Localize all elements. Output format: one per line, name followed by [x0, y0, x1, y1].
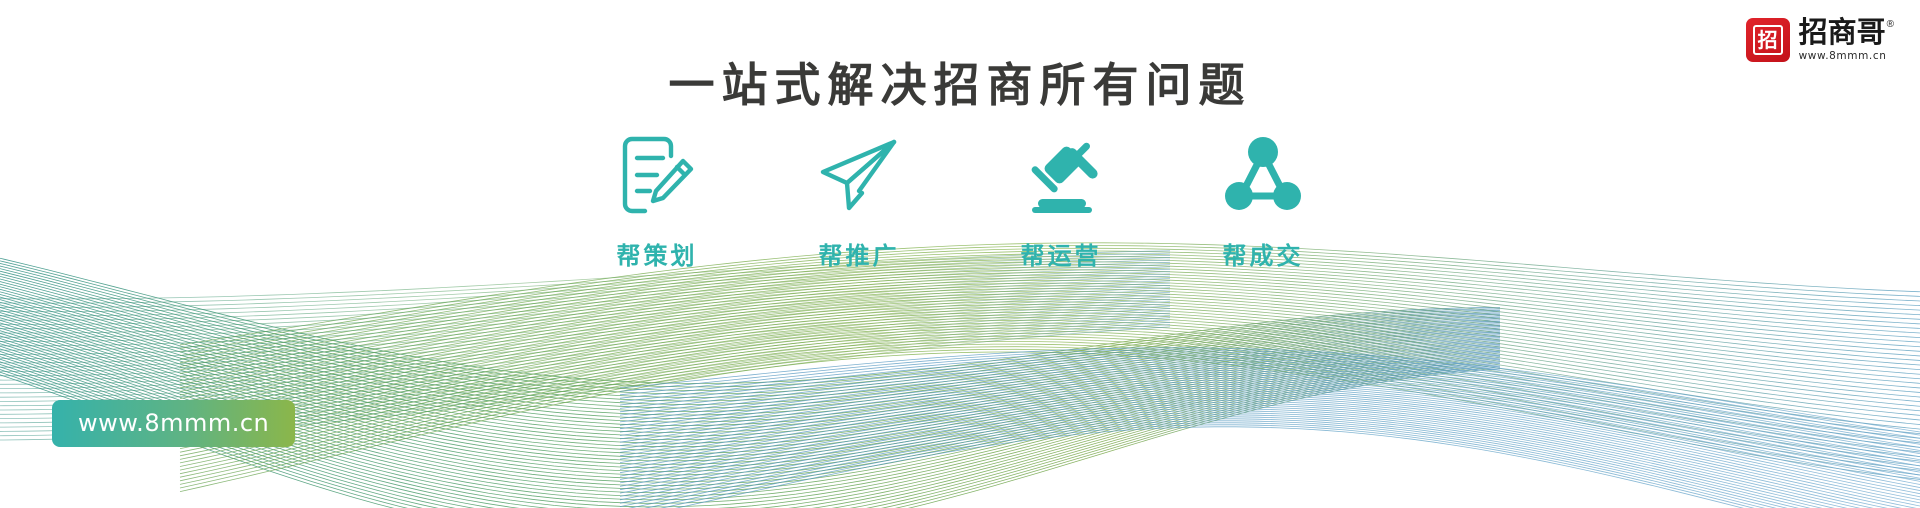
- logo-wordmark-row: 招商哥 ®: [1799, 18, 1894, 48]
- logo-mark-icon: 招: [1746, 18, 1790, 62]
- feature-label: 帮成交: [1223, 244, 1304, 268]
- logo-wordmark: 招商哥: [1799, 18, 1886, 48]
- feature-item-promotion[interactable]: 帮推广: [784, 134, 934, 268]
- gavel-icon: [1015, 134, 1107, 216]
- logo-url: www.8mmm.cn: [1799, 50, 1887, 62]
- brand-logo[interactable]: 招 招商哥 ® www.8mmm.cn: [1746, 18, 1894, 62]
- page-title: 一站式解决招商所有问题: [0, 58, 1920, 112]
- logo-mark-glyph: 招: [1753, 25, 1783, 55]
- promo-banner: 招 招商哥 ® www.8mmm.cn 一站式解决招商所有问题: [0, 0, 1920, 508]
- registered-trademark-icon: ®: [1887, 19, 1894, 30]
- feature-item-operations[interactable]: 帮运营: [986, 134, 1136, 268]
- feature-list: 帮策划 帮推广: [0, 134, 1920, 268]
- website-url-badge[interactable]: www.8mmm.cn: [52, 400, 295, 447]
- document-pencil-icon: [613, 134, 701, 216]
- logo-text: 招商哥 ® www.8mmm.cn: [1799, 18, 1894, 62]
- paper-plane-icon: [813, 134, 905, 216]
- feature-label: 帮策划: [617, 244, 698, 268]
- feature-label: 帮运营: [1021, 244, 1102, 268]
- feature-item-planning[interactable]: 帮策划: [582, 134, 732, 268]
- network-nodes-icon: [1219, 134, 1307, 216]
- feature-item-deal[interactable]: 帮成交: [1188, 134, 1338, 268]
- feature-label: 帮推广: [819, 244, 900, 268]
